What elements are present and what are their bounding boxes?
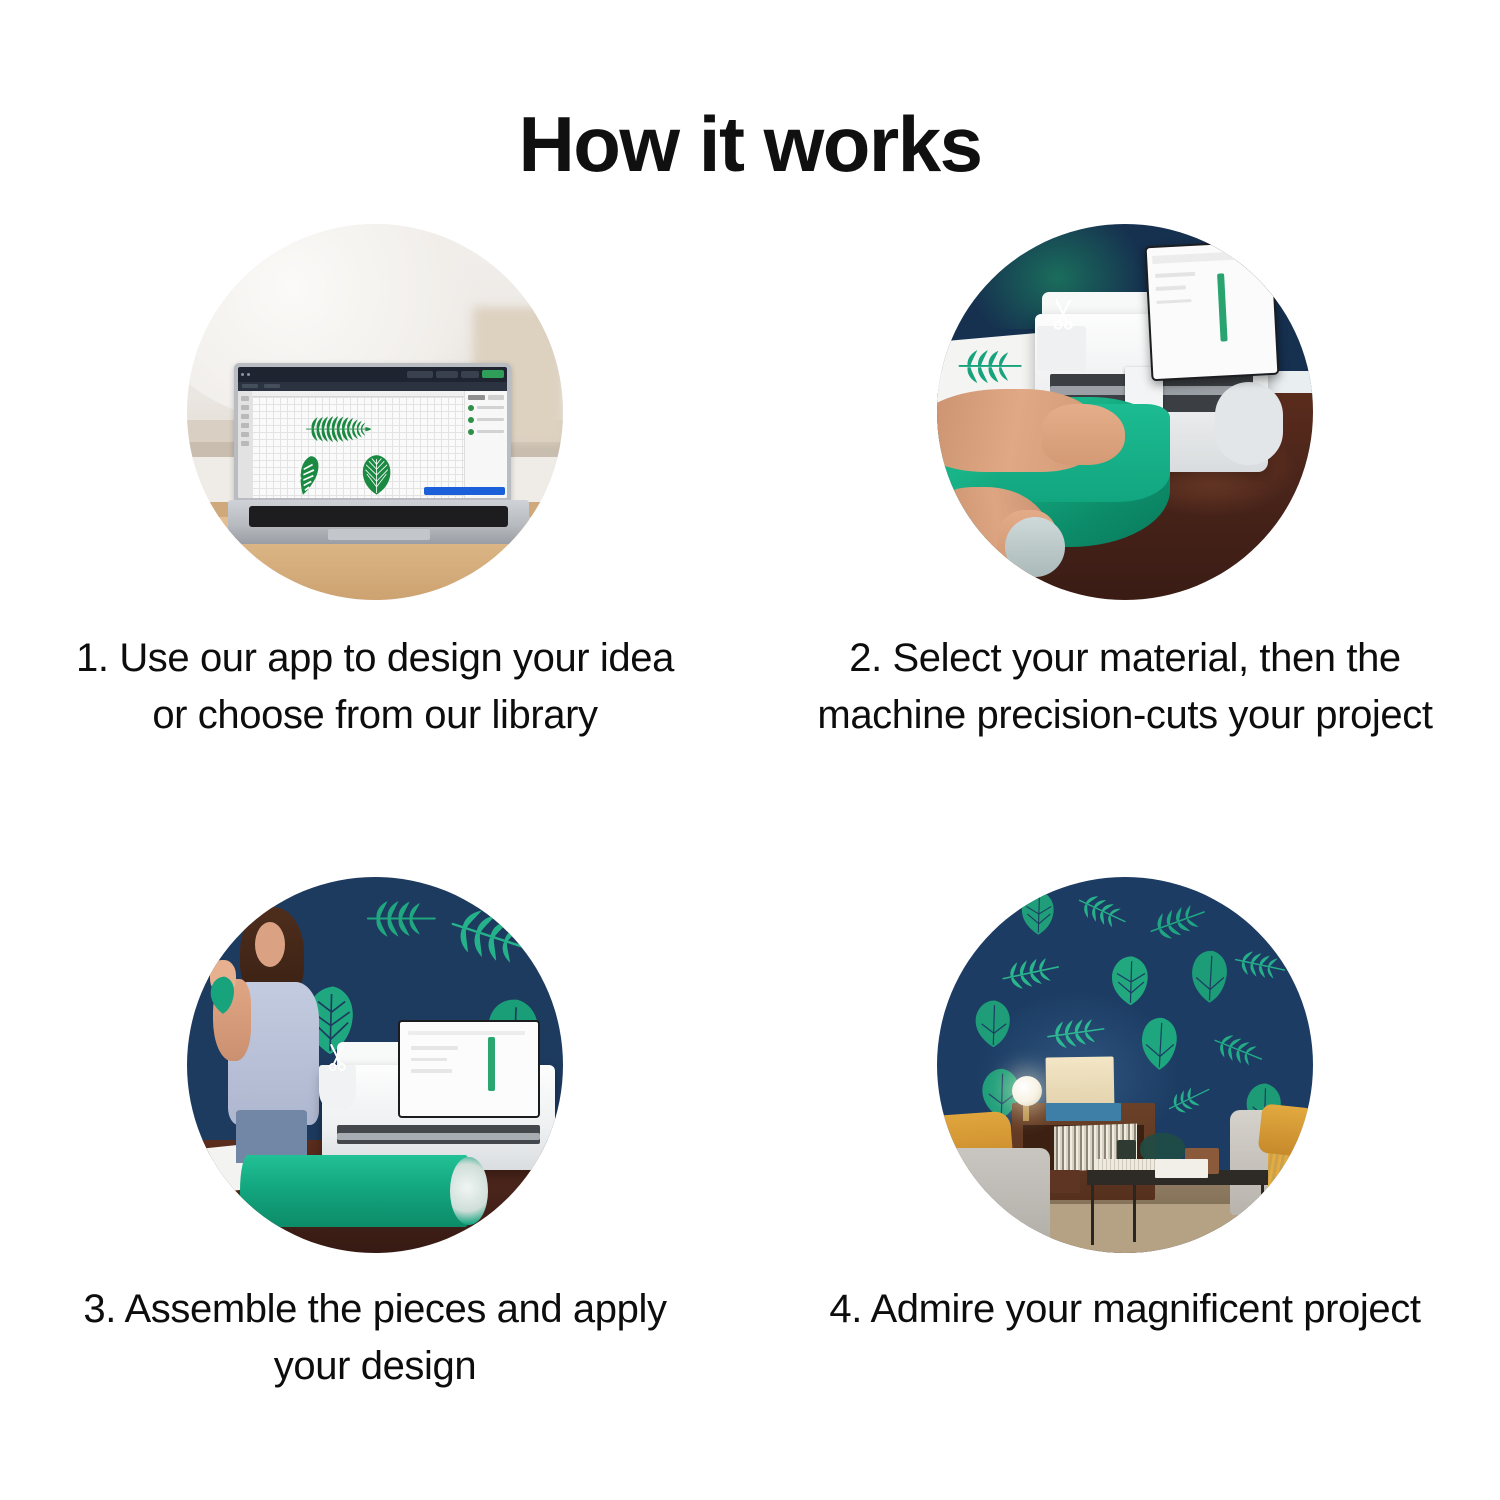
vinyl-roll-core	[1005, 517, 1065, 577]
tablet-screen[interactable]	[1146, 242, 1277, 380]
step-3-image-circle	[187, 877, 563, 1253]
step-card-3: 3. Assemble the pieces and apply your de…	[0, 855, 750, 1500]
wall-leaf-decal	[1012, 888, 1065, 937]
attach-button[interactable]	[424, 487, 505, 495]
layer-color-swatch	[468, 405, 474, 411]
how-it-works-page: How it works	[0, 0, 1500, 1500]
step-card-2: 2. Select your material, then the machin…	[750, 210, 1500, 855]
wall-leaf-decal	[1144, 892, 1212, 952]
cut-leaf-on-paper-icon	[945, 344, 1035, 389]
photo-laptop-design-app	[187, 224, 563, 600]
person-face	[255, 922, 285, 967]
palm-frond-leaf-shape[interactable]	[267, 411, 407, 447]
make-it-button[interactable]	[482, 370, 504, 378]
images-icon[interactable]	[241, 414, 249, 419]
decal-being-applied	[206, 971, 240, 1016]
new-project-icon[interactable]	[241, 396, 249, 401]
vinyl-roll-end	[450, 1157, 488, 1225]
tablet-ui-line	[411, 1058, 447, 1062]
coffee-table-leg	[1133, 1185, 1136, 1241]
tablet-ui-line	[411, 1069, 453, 1073]
elephant-ear-leaf-shape[interactable]	[349, 453, 404, 495]
monstera-leaf-shape[interactable]	[271, 455, 335, 495]
stacked-books	[1155, 1159, 1208, 1178]
sofa-left	[937, 1148, 1050, 1253]
wall-leaf-decal	[1185, 945, 1234, 1005]
tool-cup	[1037, 326, 1086, 371]
record-player	[1046, 1103, 1121, 1122]
app-logo-dot	[247, 373, 250, 376]
tablet-app-toolbar[interactable]	[408, 1031, 525, 1035]
steps-grid: 1. Use our app to design your idea or ch…	[0, 210, 1500, 1500]
tablet-ui-line	[1155, 272, 1195, 278]
tablet-canvas-cut-preview	[488, 1037, 495, 1091]
step-1-image-circle	[187, 224, 563, 600]
toolbar-chip[interactable]	[461, 371, 479, 378]
subtoolbar-chip[interactable]	[264, 384, 280, 388]
photo-finished-room	[937, 877, 1313, 1253]
right-hand	[1042, 404, 1125, 464]
scissors-icon	[1050, 297, 1076, 331]
laptop-lid	[234, 363, 511, 502]
table-decor-fan	[1095, 1159, 1155, 1170]
step-4-caption: 4. Admire your magnificent project	[805, 1281, 1445, 1338]
mustard-pillow-right	[1258, 1104, 1313, 1158]
tablet-ui-line	[1156, 286, 1186, 291]
step-2-caption: 2. Select your material, then the machin…	[805, 630, 1445, 744]
photo-machine-cutting-material	[937, 224, 1313, 600]
text-icon[interactable]	[241, 423, 249, 428]
layer-name-line	[477, 418, 504, 421]
upload-icon[interactable]	[241, 441, 249, 446]
wall-leaf-decal	[1072, 885, 1132, 938]
mounted-tablet[interactable]	[1144, 240, 1279, 382]
laptop-base	[228, 500, 529, 543]
layer-row[interactable]	[468, 429, 504, 435]
mounted-tablet[interactable]	[398, 1020, 541, 1118]
step-card-1: 1. Use our app to design your idea or ch…	[0, 210, 750, 855]
canvas-grid[interactable]	[252, 397, 464, 498]
subtoolbar-chip[interactable]	[242, 384, 258, 388]
templates-icon[interactable]	[241, 405, 249, 410]
step-3-caption: 3. Assemble the pieces and apply your de…	[55, 1281, 695, 1395]
wall-leaf-decal	[1208, 1020, 1268, 1080]
wall-leaf-decal	[1163, 1073, 1216, 1126]
layer-color-swatch	[468, 417, 474, 423]
coffee-table-legs	[1091, 1185, 1264, 1245]
wall-leaf-decal	[997, 945, 1065, 1001]
wall-leaf-decal	[1106, 952, 1155, 1008]
tab-layers[interactable]	[468, 395, 485, 400]
wall-leaf-decal	[1133, 1012, 1186, 1072]
machine-side-knob	[1215, 382, 1283, 465]
layer-name-line	[477, 430, 504, 433]
laptop-screen	[238, 367, 507, 498]
tablet-ui-line	[411, 1046, 458, 1050]
tablet-app-toolbar[interactable]	[1152, 250, 1264, 264]
throw-blanket	[1268, 1148, 1313, 1201]
photo-applying-decals	[187, 877, 563, 1253]
layer-row[interactable]	[468, 417, 504, 423]
step-card-4: 4. Admire your magnificent project	[750, 855, 1500, 1500]
wall-leaf-decal	[967, 997, 1020, 1050]
tablet-ui-line	[1156, 298, 1191, 304]
app-right-panel[interactable]	[464, 391, 507, 498]
tablet-canvas-cut-preview	[1217, 273, 1227, 342]
wall-leaf-decal	[360, 885, 443, 953]
app-left-rail[interactable]	[238, 391, 251, 498]
wall-leaf-decal	[1042, 1005, 1110, 1061]
app-body	[238, 391, 507, 498]
panel-tabs[interactable]	[468, 395, 504, 400]
toolbar-chip[interactable]	[407, 371, 433, 378]
wall-leaf-decal	[443, 892, 541, 982]
scissors-icon	[326, 1042, 349, 1072]
design-canvas-area[interactable]	[252, 391, 464, 498]
laptop	[228, 363, 529, 543]
layer-name-line	[477, 406, 504, 409]
step-4-image-circle	[937, 877, 1313, 1253]
layer-row[interactable]	[468, 405, 504, 411]
machine-rail	[337, 1133, 540, 1141]
layer-color-swatch	[468, 429, 474, 435]
shapes-icon[interactable]	[241, 432, 249, 437]
laptop-keyboard	[249, 506, 508, 527]
app-sub-toolbar[interactable]	[238, 382, 507, 391]
tablet-screen[interactable]	[400, 1022, 539, 1116]
app-top-toolbar[interactable]	[238, 367, 507, 381]
tab-color-sync[interactable]	[488, 395, 505, 400]
green-vinyl-roll	[240, 1155, 473, 1226]
step-1-caption: 1. Use our app to design your idea or ch…	[55, 630, 695, 744]
toolbar-chip[interactable]	[436, 371, 458, 378]
page-title: How it works	[0, 105, 1500, 183]
step-2-image-circle	[937, 224, 1313, 600]
laptop-trackpad	[328, 529, 430, 540]
app-logo-dot	[241, 373, 244, 376]
wall-leaf-decal	[1230, 937, 1290, 993]
